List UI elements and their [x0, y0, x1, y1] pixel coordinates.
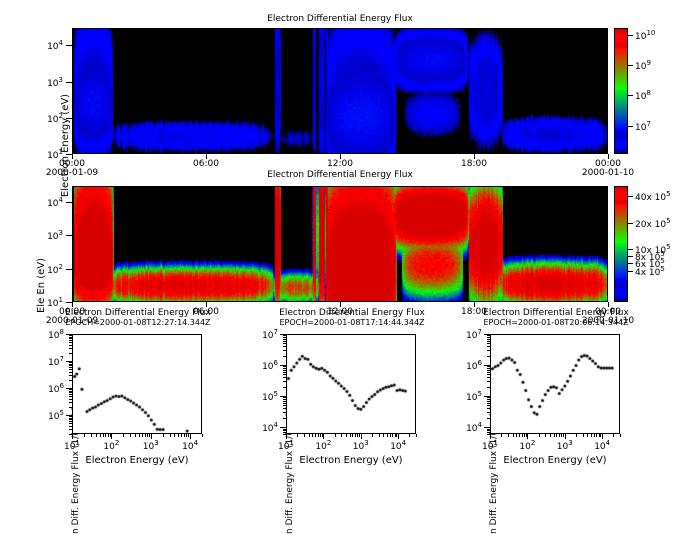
panel4-xtick-minor [359, 434, 360, 437]
panel4-xtick-minor [416, 434, 417, 437]
panel1-colorbar [614, 28, 628, 154]
panel5-ytick-minor [487, 412, 490, 413]
panel5-xtick-minor [522, 434, 523, 437]
panel4-xtick-minor [322, 434, 323, 437]
panel4-ytick-label: 106 [244, 359, 278, 372]
panel4-ytick-minor [283, 368, 286, 369]
panel5-xtick-minor [599, 434, 600, 437]
panel5-xtick-minor [526, 434, 527, 437]
panel3-xtick-minor [100, 434, 101, 437]
panel5-xtick-minor [554, 434, 555, 437]
panel5-ytick-minor [487, 374, 490, 375]
panel5-ytick-minor [487, 337, 490, 338]
panel4-ytick-minor [283, 381, 286, 382]
panel5-ytick-minor [487, 368, 490, 369]
panel2-ytick-label: 102 [5, 263, 63, 276]
panel3-ytick-minor [69, 353, 72, 354]
panel4-ytick-minor [283, 366, 286, 367]
panel3-xtick-minor [96, 434, 97, 437]
panel3-xtick-minor [139, 434, 140, 437]
panel2-ytick-group: 104103102101 [0, 186, 72, 302]
panel4-ytick-minor [283, 401, 286, 402]
panel5-ytick-minor [487, 370, 490, 371]
panel4-xtick-label: 102 [307, 439, 339, 452]
panel3-ytick-minor [69, 367, 72, 368]
panel5-ytick-minor [487, 387, 490, 388]
panel4-xtick-minor [383, 434, 384, 437]
panel5-xtick-minor [587, 434, 588, 437]
panel4-ytick-minor [283, 370, 286, 371]
panel3-ytick-group: 108107106105 [28, 334, 72, 434]
panel4-ytick-minor [283, 341, 286, 342]
panel4-xtick-minor [396, 434, 397, 437]
panel3-xtick-label: 103 [135, 439, 167, 452]
panel4-xtick-minor [309, 434, 310, 437]
panel5-xtick-minor [519, 434, 520, 437]
panel3-ytick-minor [69, 365, 72, 366]
panel4-ytick-minor [283, 430, 286, 431]
panel4-xtick-minor [335, 434, 336, 437]
panel3-ytick-minor [69, 389, 72, 390]
panel4-xtick-minor [346, 434, 347, 437]
panel5-ytick-minor [487, 341, 490, 342]
panel5-xtick-minor [561, 434, 562, 437]
panel4-ytick-minor [283, 405, 286, 406]
panel4-plot-area[interactable] [286, 334, 416, 434]
panel5-ytick-label: 106 [448, 359, 482, 372]
panel4-xtick-minor [297, 434, 298, 437]
panel4-xtick-minor [395, 434, 396, 437]
panel1-spectrogram-image [73, 29, 607, 153]
panel4-ytick-label: 104 [244, 421, 278, 434]
panel3-ytick-label: 107 [30, 355, 64, 368]
panel1-colorbar-label: n Diff. Energy Flux (1/(cm^ [686, 30, 697, 41]
panel5-xtick-minor [550, 434, 551, 437]
panel5-ytick-minor [487, 399, 490, 400]
panel2-ctick-mark [628, 249, 633, 250]
panel5-ytick-label: 107 [448, 328, 482, 341]
panel3-xtick-label: 104 [174, 439, 206, 452]
panel5-xtick-label: 101 [474, 439, 506, 452]
panel5-xtick-label: 103 [549, 439, 581, 452]
panel3-title: Electron Differential Energy Flux [48, 308, 228, 318]
panel3-xtick-minor [103, 434, 104, 437]
panel1-colorbar-tick-group: 1010109108107 [628, 28, 668, 154]
panel5-xtick-minor [620, 434, 621, 437]
panel3-xtick-minor [84, 434, 85, 437]
panel3-ytick-minor [69, 391, 72, 392]
panel5-ytick-minor [487, 356, 490, 357]
panel3-xtick-minor [149, 434, 150, 437]
panel2-ytick-label: 103 [5, 229, 63, 242]
panel4-xtick-label: 103 [345, 439, 377, 452]
panel4-ytick-minor [283, 387, 286, 388]
panel2-colorbar-gradient [615, 187, 627, 301]
panel3-ytick-minor [69, 342, 72, 343]
panel1-ytick-label: 102 [5, 112, 63, 125]
panel4-ytick-minor [283, 356, 286, 357]
panel1-ytick-label: 103 [5, 76, 63, 89]
panel3-ytick-minor [69, 419, 72, 420]
panel2-ytick-mark [66, 235, 72, 236]
panel5-ytick-minor [487, 346, 490, 347]
panel4-xtick-minor [320, 434, 321, 437]
panel4-xtick-minor [318, 434, 319, 437]
panel4-scatter-points [287, 335, 415, 433]
panel5-ytick-minor [487, 405, 490, 406]
panel5-xtick-minor [600, 434, 601, 437]
panel2-ctick-label: 4x 105 [635, 265, 665, 278]
panel4-ytick-group: 107106105104 [242, 334, 286, 434]
panel4-ytick-minor [283, 377, 286, 378]
panel5-ytick-minor [487, 430, 490, 431]
panel4-ytick-minor [283, 337, 286, 338]
panel3-ytick-minor [69, 338, 72, 339]
panel5-xtick-minor [539, 434, 540, 437]
panel5-ytick-minor [487, 408, 490, 409]
panel4-xtick-minor [312, 434, 313, 437]
panel4-xtick-minor [357, 434, 358, 437]
panel4-xtick-minor [341, 434, 342, 437]
panel3-ytick-minor [69, 335, 72, 336]
panel5-xtick-minor [613, 434, 614, 437]
panel2-colorbar-tick-group: 40x 10520x 10510x 1058x 1056x 1054x 105 [628, 186, 678, 302]
panel4-ytick-minor [283, 346, 286, 347]
panel5-ytick-minor [487, 372, 490, 373]
panel1-xtick-label: 12:00 [316, 159, 364, 169]
panel5-xtick-minor [556, 434, 557, 437]
panel3-ytick-minor [69, 345, 72, 346]
panel3-ytick-minor [69, 337, 72, 338]
panel3-xtick-label: 102 [95, 439, 127, 452]
panel5-xtick-minor [545, 434, 546, 437]
panel1-ctick-label: 109 [635, 59, 651, 72]
panel4-xtick-label: 104 [382, 439, 414, 452]
panel4-ytick-minor [283, 432, 286, 433]
panel4-ytick-minor [283, 350, 286, 351]
panel3-scatter-points [73, 335, 201, 433]
panel4-xtick-minor [390, 434, 391, 437]
panel3-xtick-minor [186, 434, 187, 437]
panel5-xtick-label: 102 [511, 439, 543, 452]
panel1-ctick-label: 1010 [635, 29, 655, 42]
panel4-xtick-group: 101102103104 [286, 434, 416, 452]
panel1-ytick-mark [66, 82, 72, 83]
panel4-ytick-label: 105 [244, 390, 278, 403]
panel3-ytick-minor [69, 421, 72, 422]
panel4-ytick-minor [283, 397, 286, 398]
panel3-ytick-minor [69, 394, 72, 395]
panel5-xtick-label: 104 [586, 439, 618, 452]
panel4-xtick-minor [350, 434, 351, 437]
panel3-subtitle: EPOCH=2000-01-08T12:27:14.344Z [40, 318, 236, 327]
panel4-subtitle: EPOCH=2000-01-08T17:14:44.344Z [254, 318, 450, 327]
panel3-xtick-minor [110, 434, 111, 437]
panel2-ctick-mark [628, 271, 633, 272]
panel3-ytick-minor [69, 364, 72, 365]
panel5-xtick-minor [583, 434, 584, 437]
panel3-xtick-minor [130, 434, 131, 437]
panel2-ctick-label: 40x 105 [635, 190, 671, 203]
panel5-ytick-minor [487, 350, 490, 351]
panel4-xtick-minor [387, 434, 388, 437]
panel5-scatter-points [491, 335, 619, 433]
panel5-title: Electron Differential Energy Flux [466, 308, 646, 318]
panel4-xtick-minor [372, 434, 373, 437]
panel3-ytick-minor [69, 418, 72, 419]
panel4-ytick-minor [283, 339, 286, 340]
panel5-ytick-minor [487, 403, 490, 404]
panel4-ytick-minor [283, 374, 286, 375]
panel3-ytick-minor [69, 375, 72, 376]
panel5-ytick-minor [487, 432, 490, 433]
panel5-plot-area[interactable] [490, 334, 620, 434]
panel5-xtick-minor [513, 434, 514, 437]
panel1-title: Electron Differential Energy Flux [72, 14, 608, 24]
panel1-ctick-mark [628, 126, 633, 127]
panel1-ytick-group: 104103102101 [0, 28, 72, 154]
panel5-ytick-minor [487, 381, 490, 382]
panel3-ytick-label: 108 [30, 328, 64, 341]
panel3-xtick-minor [135, 434, 136, 437]
panel3-xtick-minor [170, 434, 171, 437]
panel3-ytick-minor [69, 407, 72, 408]
panel3-ytick-label: 105 [30, 409, 64, 422]
panel2-title: Electron Differential Energy Flux [72, 170, 608, 180]
panel3-xtick-minor [105, 434, 106, 437]
panel4-xtick-minor [392, 434, 393, 437]
panel5-ytick-minor [487, 429, 490, 430]
panel3-ytick-minor [69, 396, 72, 397]
panel5-xlabel: Electron Energy (eV) [480, 455, 630, 466]
panel5-xtick-minor [501, 434, 502, 437]
panel5-xtick-minor [596, 434, 597, 437]
panel5-xtick-minor [508, 434, 509, 437]
panel2-colorbar-label: n Diff. Energy Flux (1/(cm^ [686, 188, 697, 199]
panel1-ctick-mark [628, 65, 633, 66]
panel3-ytick-minor [69, 348, 72, 349]
panel5-xtick-minor [516, 434, 517, 437]
panel5-xtick-minor [559, 434, 560, 437]
panel1-xtick-label: 06:00 [182, 159, 230, 169]
panel2-plot-area[interactable] [72, 186, 608, 302]
panel5-xtick-minor [591, 434, 592, 437]
panel3-xtick-minor [178, 434, 179, 437]
panel3-ytick-minor [69, 392, 72, 393]
panel4-xtick-minor [379, 434, 380, 437]
panel4-title: Electron Differential Energy Flux [262, 308, 442, 318]
panel2-spectrogram-image [73, 187, 607, 301]
panel4-xtick-minor [315, 434, 316, 437]
panel2-ctick-mark [628, 263, 633, 264]
panel3-ytick-minor [69, 423, 72, 424]
panel3-xtick-minor [147, 434, 148, 437]
panel4-xtick-minor [352, 434, 353, 437]
panel3-ytick-minor [69, 429, 72, 430]
panel3-ytick-minor [69, 402, 72, 403]
panel3-ytick-minor [69, 340, 72, 341]
panel2-ctick-mark [628, 196, 633, 197]
panel4-ytick-minor [283, 429, 286, 430]
panel5-xtick-minor [524, 434, 525, 437]
panel2-colorbar [614, 186, 628, 302]
panel4-ytick-minor [283, 408, 286, 409]
panel5-xtick-minor [576, 434, 577, 437]
panel1-colorbar-gradient [615, 29, 627, 153]
panel5-subtitle: EPOCH=2000-01-08T20:06:14.344Z [458, 318, 654, 327]
panel4-ytick-minor [283, 403, 286, 404]
panel3-ytick-minor [69, 416, 72, 417]
figure-canvas: Electron Differential Energy Flux Electr… [0, 0, 697, 492]
panel4-ytick-minor [283, 412, 286, 413]
panel5-ytick-label: 105 [448, 390, 482, 403]
panel3-xtick-minor [181, 434, 182, 437]
panel4-ytick-minor [283, 335, 286, 336]
panel3-xlabel: Electron Energy (eV) [62, 455, 212, 466]
panel3-ytick-minor [69, 369, 72, 370]
panel3-plot-area[interactable] [72, 334, 202, 434]
panel3-xtick-group: 101102103104 [72, 434, 202, 452]
panel4-xtick-minor [409, 434, 410, 437]
panel2-ctick-label: 20x 105 [635, 217, 671, 230]
panel4-ytick-minor [283, 343, 286, 344]
panel3-xtick-minor [145, 434, 146, 437]
panel2-ctick-mark [628, 223, 633, 224]
panel5-ytick-minor [487, 343, 490, 344]
panel4-ytick-label: 107 [244, 328, 278, 341]
panel3-xtick-minor [91, 434, 92, 437]
panel1-ytick-mark [66, 45, 72, 46]
panel1-plot-area[interactable] [72, 28, 608, 154]
panel3-xtick-minor [174, 434, 175, 437]
panel2-ytick-mark [66, 269, 72, 270]
panel4-xtick-minor [355, 434, 356, 437]
panel5-ytick-minor [487, 377, 490, 378]
panel5-xtick-group: 101102103104 [490, 434, 620, 452]
panel5-ytick-minor [487, 335, 490, 336]
panel4-xtick-minor [304, 434, 305, 437]
panel2-ytick-label: 104 [5, 196, 63, 209]
panel1-ytick-mark [66, 118, 72, 119]
panel3-ytick-label: 106 [30, 382, 64, 395]
panel1-xtick-label: 18:00 [450, 159, 498, 169]
panel1-ctick-label: 108 [635, 89, 651, 102]
panel4-ytick-minor [283, 372, 286, 373]
panel5-ytick-minor [487, 397, 490, 398]
panel5-ytick-minor [487, 339, 490, 340]
panel5-xtick-minor [594, 434, 595, 437]
panel5-ytick-minor [487, 418, 490, 419]
panel1-ctick-label: 107 [635, 120, 651, 133]
panel3-ytick-minor [69, 380, 72, 381]
panel4-ytick-minor [283, 418, 286, 419]
panel4-xlabel: Electron Energy (eV) [276, 455, 426, 466]
panel3-ytick-minor [69, 362, 72, 363]
panel5-ytick-minor [487, 366, 490, 367]
panel5-ytick-label: 104 [448, 421, 482, 434]
panel1-ctick-mark [628, 95, 633, 96]
panel5-ytick-group: 107106105104 [446, 334, 490, 434]
panel3-xtick-minor [188, 434, 189, 437]
panel2-ytick-mark [66, 202, 72, 203]
panel4-ytick-minor [283, 399, 286, 400]
panel3-xtick-minor [163, 434, 164, 437]
panel1-ctick-mark [628, 35, 633, 36]
panel1-ytick-label: 104 [5, 39, 63, 52]
panel3-ytick-minor [69, 399, 72, 400]
panel3-xtick-label: 101 [56, 439, 88, 452]
panel3-xtick-minor [123, 434, 124, 437]
panel3-xtick-minor [142, 434, 143, 437]
panel4-xtick-label: 101 [270, 439, 302, 452]
panel3-xtick-minor [184, 434, 185, 437]
panel5-ytick-minor [487, 401, 490, 402]
panel2-ctick-mark [628, 256, 633, 257]
panel3-xtick-minor [202, 434, 203, 437]
panel5-xtick-minor [563, 434, 564, 437]
panel3-ytick-minor [69, 372, 72, 373]
panel3-xtick-minor [108, 434, 109, 437]
panel3-ytick-minor [69, 426, 72, 427]
